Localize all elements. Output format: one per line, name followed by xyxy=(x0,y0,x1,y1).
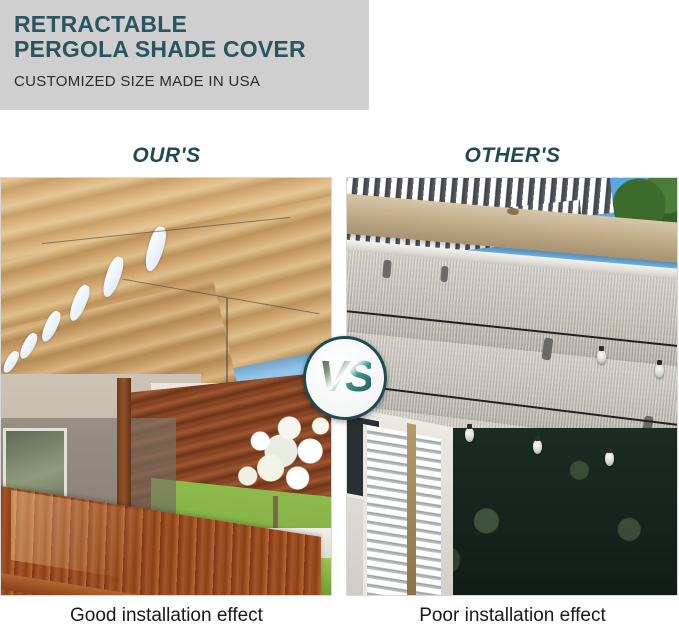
flowering-tree xyxy=(229,406,332,506)
light-bulb xyxy=(533,440,542,454)
shade-tie-clip xyxy=(440,266,448,283)
light-bulb xyxy=(605,452,614,466)
column-label-others: OTHER'S xyxy=(346,144,679,168)
photo-poor-installation xyxy=(346,177,678,596)
light-bulb xyxy=(597,350,606,364)
photo-good-installation xyxy=(0,177,332,596)
louvered-shutters xyxy=(363,424,441,596)
caption-good-installation: Good installation effect xyxy=(0,605,333,627)
header-banner: RETRACTABLE PERGOLA SHADE COVER CUSTOMIZ… xyxy=(0,0,369,110)
support-wire xyxy=(226,298,228,388)
caption-poor-installation: Poor installation effect xyxy=(346,605,679,627)
page-title: RETRACTABLE PERGOLA SHADE COVER xyxy=(14,12,369,62)
light-bulb xyxy=(655,364,664,378)
shade-tie-clip xyxy=(382,260,392,279)
vs-label: VS xyxy=(319,355,372,399)
column-label-ours: OUR'S xyxy=(0,144,333,168)
vs-badge: VS xyxy=(303,336,387,420)
page-subtitle: CUSTOMIZED SIZE MADE IN USA xyxy=(14,73,369,90)
light-bulb xyxy=(465,428,474,442)
wood-trim-post xyxy=(407,423,416,596)
